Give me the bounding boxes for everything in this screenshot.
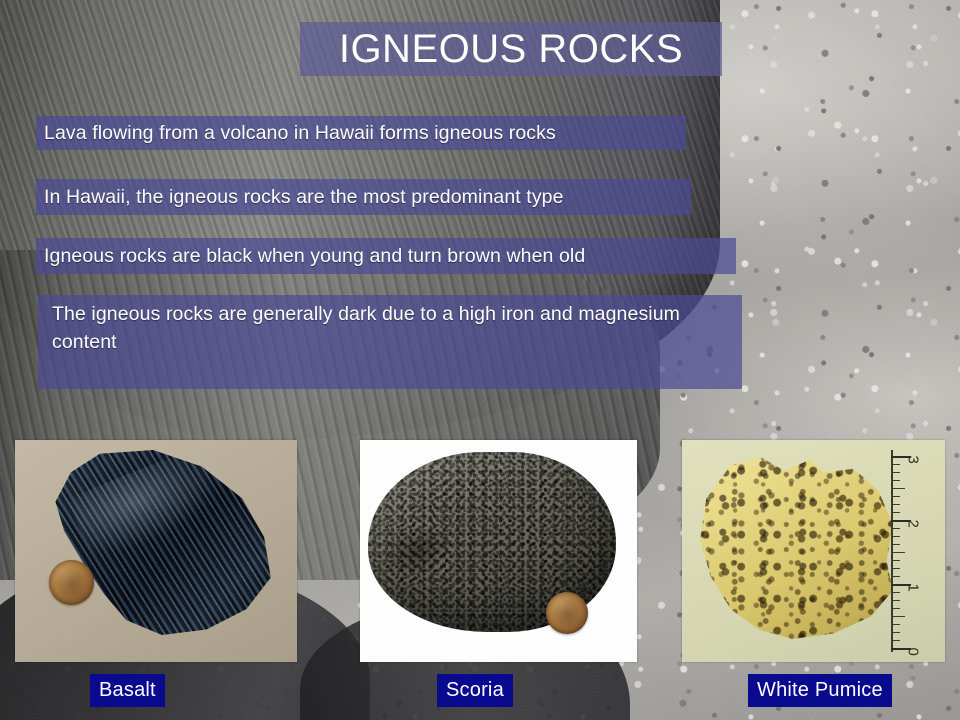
bullet-text-3: Igneous rocks are black when young and t… xyxy=(44,245,585,268)
ruler-tick xyxy=(891,560,900,561)
ruler-tick xyxy=(891,544,900,545)
ruler-tick xyxy=(891,592,900,593)
ruler-label: 0 xyxy=(905,648,922,656)
ruler-label: 2 xyxy=(905,520,922,528)
bullet-text-1: Lava flowing from a volcano in Hawaii fo… xyxy=(44,122,556,145)
slide-igneous-rocks: IGNEOUS ROCKS Lava flowing from a volcan… xyxy=(0,0,960,720)
penny-coin-scale-scoria xyxy=(546,592,588,634)
bullet-bar-3: Igneous rocks are black when young and t… xyxy=(36,238,736,274)
caption-white-pumice-label: White Pumice xyxy=(757,679,883,702)
ruler-scale: 0123 xyxy=(883,446,931,656)
ruler-tick xyxy=(891,608,900,609)
ruler-tick xyxy=(891,464,900,465)
ruler-tick xyxy=(891,488,905,489)
specimen-photo-scoria xyxy=(360,440,637,662)
ruler-tick xyxy=(891,576,900,577)
caption-scoria-label: Scoria xyxy=(446,679,504,702)
ruler-tick xyxy=(891,472,900,473)
penny-face xyxy=(554,600,581,627)
ruler-tick xyxy=(891,496,900,497)
caption-basalt: Basalt xyxy=(90,674,165,707)
ruler-tick xyxy=(891,568,900,569)
ruler-tick xyxy=(891,536,900,537)
specimen-photo-white-pumice: 0123 xyxy=(682,440,945,662)
title-banner: IGNEOUS ROCKS xyxy=(300,22,722,76)
bullet-text-4: The igneous rocks are generally dark due… xyxy=(52,301,742,356)
caption-white-pumice: White Pumice xyxy=(748,674,892,707)
page-title: IGNEOUS ROCKS xyxy=(339,27,683,72)
ruler-tick xyxy=(891,640,900,641)
caption-basalt-label: Basalt xyxy=(99,679,156,702)
ruler-tick xyxy=(891,600,900,601)
ruler-tick xyxy=(891,512,900,513)
caption-scoria: Scoria xyxy=(437,674,513,707)
bullet-bar-4: The igneous rocks are generally dark due… xyxy=(38,295,742,389)
ruler-label: 1 xyxy=(905,584,922,592)
ruler-tick xyxy=(891,504,900,505)
penny-face xyxy=(57,568,86,597)
ruler-tick xyxy=(891,480,900,481)
ruler-tick xyxy=(891,624,900,625)
bullet-bar-1: Lava flowing from a volcano in Hawaii fo… xyxy=(36,116,686,150)
bullet-text-2: In Hawaii, the igneous rocks are the mos… xyxy=(44,186,564,209)
specimen-photo-basalt xyxy=(15,440,297,662)
ruler-tick xyxy=(891,528,900,529)
ruler-tick xyxy=(891,632,900,633)
bullet-bar-2: In Hawaii, the igneous rocks are the mos… xyxy=(36,179,691,215)
ruler-tick xyxy=(891,552,905,553)
ruler-tick xyxy=(891,616,905,617)
penny-coin-scale-basalt xyxy=(49,560,94,605)
ruler-label: 3 xyxy=(905,456,922,464)
